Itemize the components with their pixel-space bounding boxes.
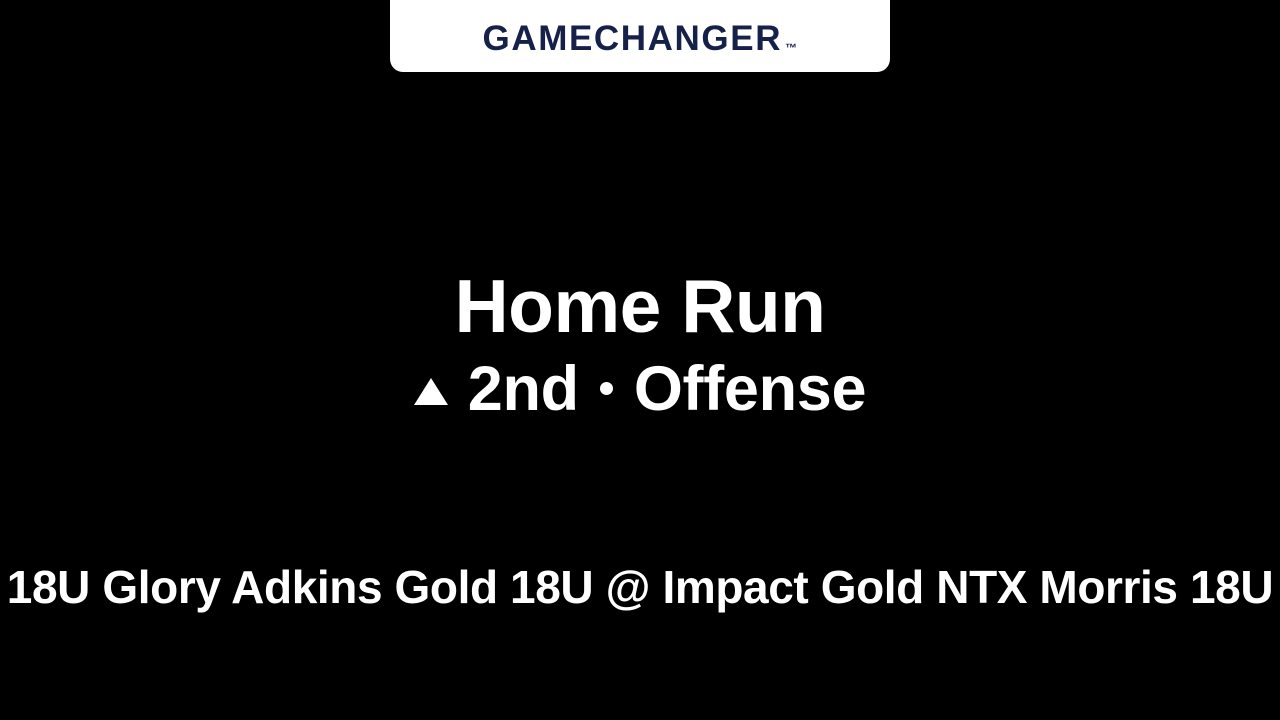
inning-label: 2nd [468, 358, 579, 421]
brand-wordmark: GAMECHANGER ™ [483, 21, 798, 56]
brand-name: GAMECHANGER [483, 21, 783, 56]
play-title: Home Run [0, 268, 1280, 345]
triangle-up-icon [414, 378, 448, 405]
matchup: 18U Glory Adkins Gold 18U @ Impact Gold … [0, 562, 1280, 613]
matchup-teams-label: 18U Glory Adkins Gold 18U @ Impact Gold … [0, 562, 1280, 613]
half-inning-label: Offense [634, 358, 866, 421]
play-block: Home Run 2nd Offense [0, 268, 1280, 421]
bullet-separator-icon [600, 382, 613, 395]
play-context-line: 2nd Offense [0, 358, 1280, 421]
play-highlight-screen: GAMECHANGER ™ Home Run 2nd Offense 18U G… [0, 0, 1280, 720]
trademark-symbol: ™ [785, 42, 797, 54]
gamechanger-brand-badge: GAMECHANGER ™ [390, 0, 890, 72]
